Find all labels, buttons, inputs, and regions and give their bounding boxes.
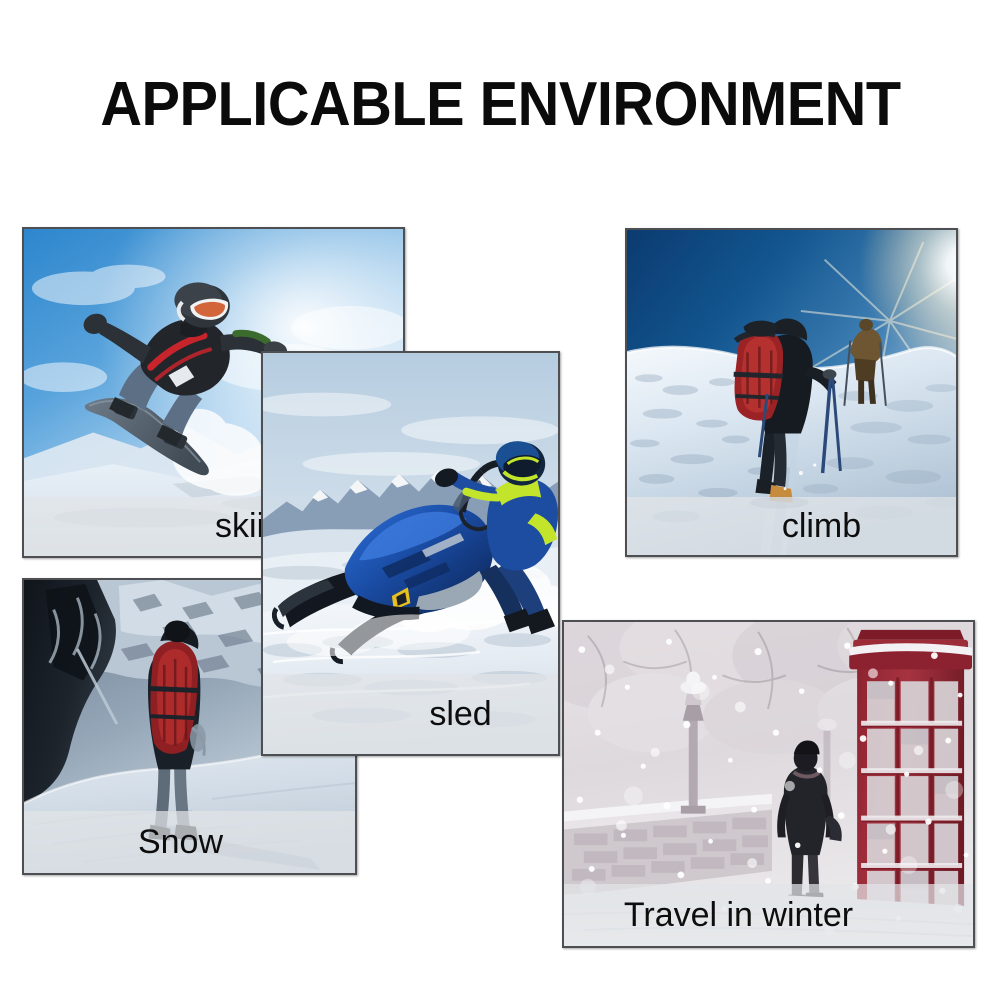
panel-sled[interactable]: sled (261, 351, 560, 756)
climb-caption: climb (627, 497, 956, 555)
sled-caption: sled (263, 674, 558, 754)
snow-label: Snow (138, 823, 241, 862)
snow-caption: Snow (24, 811, 355, 873)
panel-travel[interactable]: Travel in winter (562, 620, 975, 948)
sled-label: sled (329, 695, 491, 734)
climb-label: climb (722, 507, 861, 546)
travel-label: Travel in winter (624, 896, 913, 935)
travel-caption: Travel in winter (564, 884, 973, 946)
panel-climb[interactable]: climb (625, 228, 958, 557)
page-title: APPLICABLE ENVIRONMENT (35, 74, 966, 136)
